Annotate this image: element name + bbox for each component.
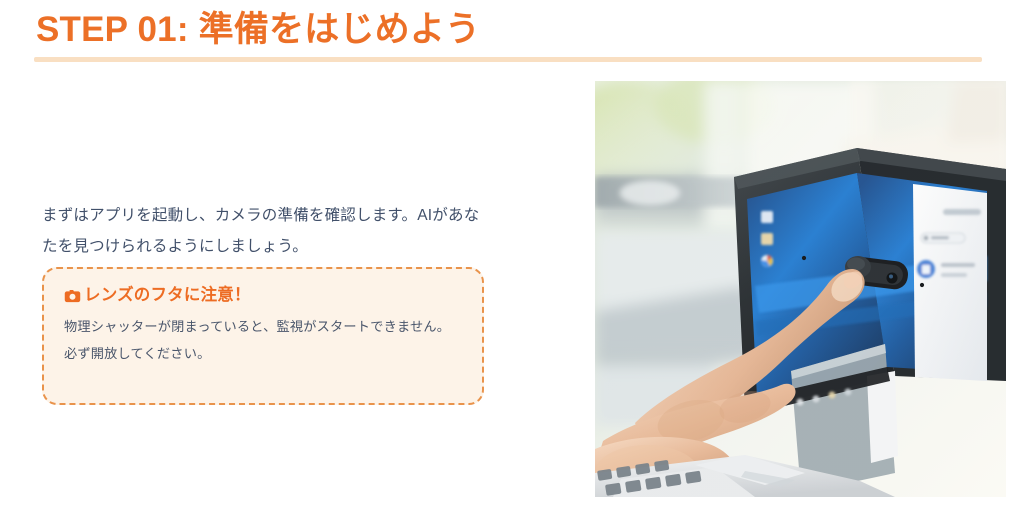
warning-callout: レンズのフタに注意！ 物理シャッターが閉まっていると、監視がスタートできません。…	[42, 267, 484, 405]
laptop-webcam-shutter-photo	[595, 81, 1006, 497]
camera-icon	[64, 288, 81, 305]
callout-heading: レンズのフタに注意！	[64, 285, 462, 306]
callout-heading-label: レンズのフタに注意！	[84, 285, 251, 306]
callout-body: 物理シャッターが閉まっていると、監視がスタートできません。必ず開放してください。	[64, 314, 462, 367]
page-title: STEP 01: 準備をはじめよう	[36, 9, 480, 51]
intro-paragraph: まずはアプリを起動し、カメラの準備を確認します。AIがあなたを見つけられるように…	[42, 200, 494, 262]
step-photo	[595, 81, 1006, 497]
left-content-column: まずはアプリを起動し、カメラの準備を確認します。AIがあなたを見つけられるように…	[0, 62, 560, 529]
